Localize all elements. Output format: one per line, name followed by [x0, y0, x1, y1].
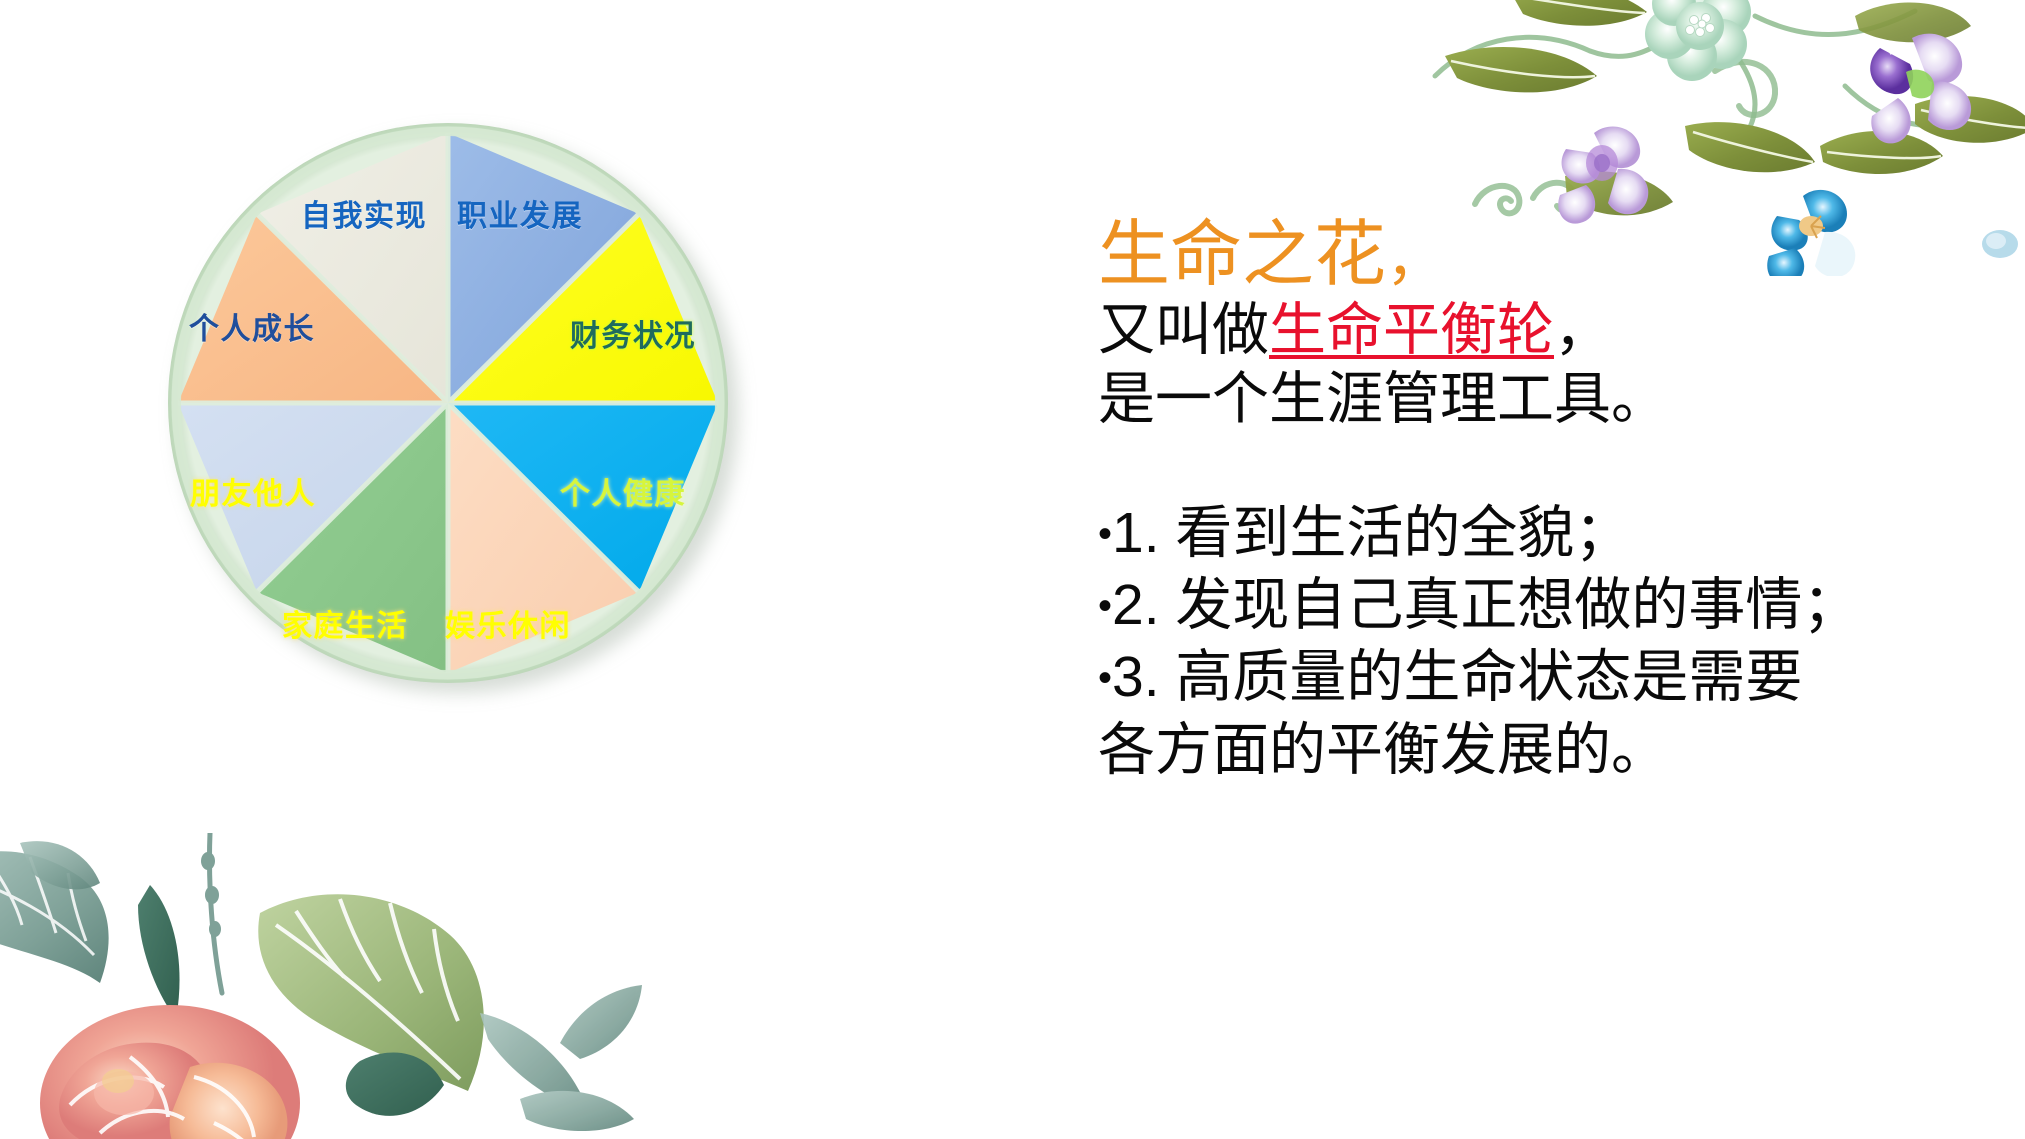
bullet-marker-icon: • — [1098, 584, 1112, 628]
page-title: 生命之花， — [1098, 215, 1898, 296]
page-title-text: 生命之花 — [1098, 215, 1386, 295]
subtitle-line: 又叫做生命平衡轮， — [1098, 296, 1898, 366]
subtitle-prefix: 又叫做 — [1098, 298, 1269, 362]
list-item: •3. 高质量的生命状态是需要 — [1098, 641, 1898, 713]
description-line: 是一个生涯管理工具。 — [1098, 365, 1898, 435]
list-item-continuation: 各方面的平衡发展的。 — [1098, 714, 1898, 786]
subtitle-highlight: 生命平衡轮 — [1269, 298, 1554, 362]
list-item-text: 1. 看到生活的全貌； — [1112, 501, 1631, 565]
subtitle-suffix: ， — [1554, 298, 1611, 362]
wheel-graphic[interactable]: 职业发展 财务状况 个人健康 娱乐休闲 家庭生活 朋友他人 个人成长 自我实现 — [168, 123, 728, 683]
bullet-marker-icon: • — [1098, 657, 1112, 701]
list-item: •1. 看到生活的全貌； — [1098, 497, 1898, 569]
bullet-list: •1. 看到生活的全貌； •2. 发现自己真正想做的事情； •3. 高质量的生命… — [1098, 497, 1898, 787]
content-text-block: 生命之花， 又叫做生命平衡轮， 是一个生涯管理工具。 •1. 看到生活的全貌； … — [1098, 215, 1898, 786]
slide-canvas: 职业发展 财务状况 个人健康 娱乐休闲 家庭生活 朋友他人 个人成长 自我实现 … — [0, 0, 2025, 1139]
list-item-text: 3. 高质量的生命状态是需要 — [1112, 645, 1802, 709]
bullet-marker-icon: • — [1098, 512, 1112, 556]
list-item-text: 2. 发现自己真正想做的事情； — [1112, 573, 1859, 637]
page-title-comma: ， — [1386, 227, 1444, 292]
watercolor-peony-corner-decoration — [0, 833, 660, 1139]
list-item: •2. 发现自己真正想做的事情； — [1098, 569, 1898, 641]
life-balance-wheel[interactable]: 职业发展 财务状况 个人健康 娱乐休闲 家庭生活 朋友他人 个人成长 自我实现 — [168, 123, 728, 683]
